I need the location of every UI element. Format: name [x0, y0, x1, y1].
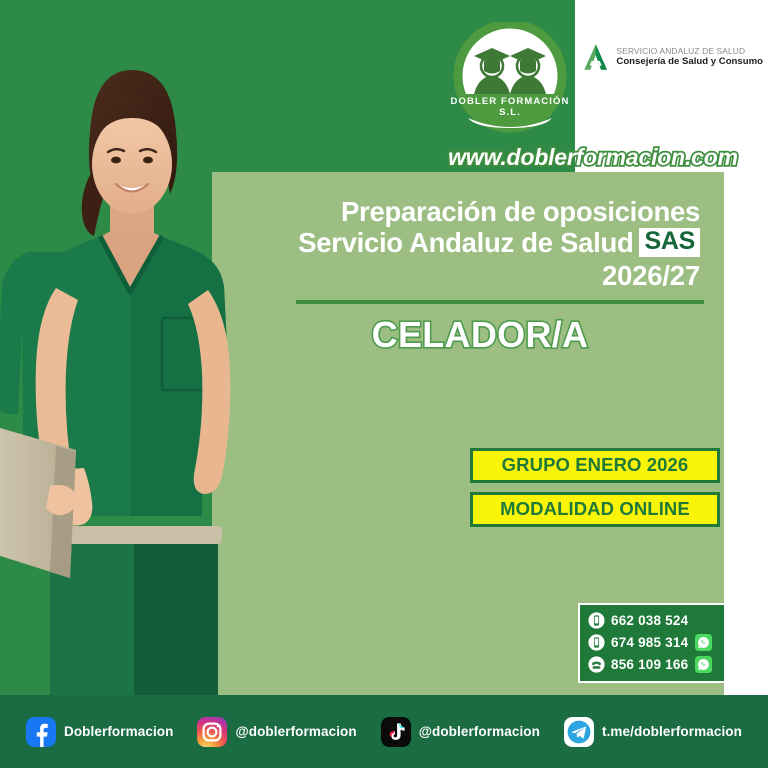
headline-years: 2026/27 — [236, 259, 700, 292]
telegram-icon[interactable] — [564, 717, 594, 747]
phone-number: 662 038 524 — [611, 613, 688, 628]
graduates-icon — [444, 22, 576, 140]
role-title: CELADOR/A — [236, 314, 724, 356]
phone-row[interactable]: 856 109 166 — [588, 656, 716, 673]
whatsapp-icon[interactable] — [695, 634, 712, 651]
whatsapp-spacer — [694, 612, 711, 629]
sas-tag: SAS — [639, 228, 700, 257]
tiktok-icon[interactable] — [381, 717, 411, 747]
instagram-icon[interactable] — [197, 717, 227, 747]
phone-row[interactable]: 674 985 314 — [588, 634, 716, 651]
social-instagram[interactable]: @doblerformacion — [197, 717, 356, 747]
landline-phone-icon — [588, 656, 605, 673]
phone-number: 856 109 166 — [611, 657, 688, 672]
poster-canvas: DOBLER FORMACIÓN S.L. SERVICIO ANDALUZ D… — [0, 0, 768, 768]
mobile-phone-icon — [588, 612, 605, 629]
headline-line1: Preparación de oposiciones — [236, 196, 700, 227]
phone-number: 674 985 314 — [611, 635, 688, 650]
social-handle: @doblerformacion — [419, 724, 540, 739]
social-handle: @doblerformacion — [235, 724, 356, 739]
badges-group: GRUPO ENERO 2026 MODALIDAD ONLINE — [470, 448, 720, 527]
social-footer: Doblerformacion @doblerforma — [0, 695, 768, 768]
headline-line2-row: Servicio Andaluz de Salud SAS — [236, 227, 700, 258]
mobile-phone-icon — [588, 634, 605, 651]
badge-modalidad-online[interactable]: MODALIDAD ONLINE — [470, 492, 720, 527]
headline-block: Preparación de oposiciones Servicio Anda… — [236, 196, 724, 292]
junta-andalucia-logo: SERVICIO ANDALUZ DE SALUD Consejería de … — [583, 33, 763, 81]
headline-line2: Servicio Andaluz de Salud — [298, 227, 633, 258]
social-handle: t.me/doblerformacion — [602, 724, 742, 739]
phone-row[interactable]: 662 038 524 — [588, 612, 716, 629]
badge-grupo-enero[interactable]: GRUPO ENERO 2026 — [470, 448, 720, 483]
social-tiktok[interactable]: @doblerformacion — [381, 717, 540, 747]
social-handle: Doblerformacion — [64, 724, 174, 739]
website-url[interactable]: www.doblerformacion.com — [443, 140, 743, 174]
whatsapp-icon[interactable] — [695, 656, 712, 673]
facebook-icon[interactable] — [26, 717, 56, 747]
institution-line2: Consejería de Salud y Consumo — [616, 56, 763, 68]
institution-line1: SERVICIO ANDALUZ DE SALUD — [616, 46, 763, 57]
social-telegram[interactable]: t.me/doblerformacion — [564, 717, 742, 747]
healthcare-worker-photo — [0, 56, 262, 768]
junta-andalucia-a-icon — [583, 36, 608, 78]
social-facebook[interactable]: Doblerformacion — [26, 717, 174, 747]
company-logo-label: DOBLER FORMACIÓN S.L. — [444, 96, 576, 118]
headline-divider — [296, 300, 704, 304]
company-logo: DOBLER FORMACIÓN S.L. — [444, 22, 576, 140]
contact-phones-panel: 662 038 524 674 985 314 856 109 166 — [578, 603, 726, 683]
